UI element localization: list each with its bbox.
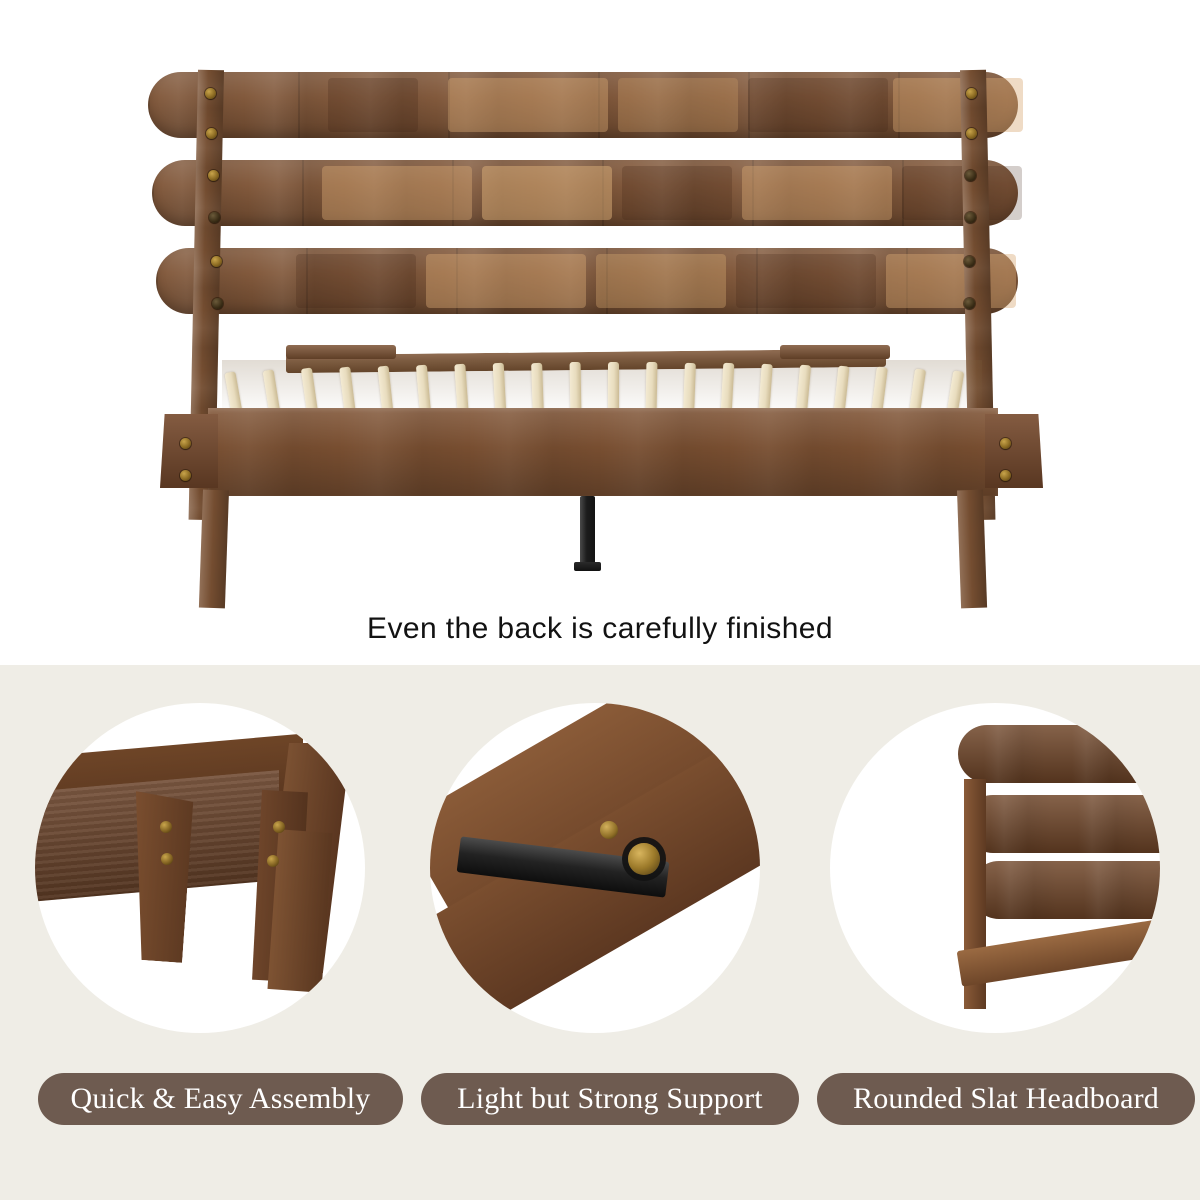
wood-block [328, 78, 418, 132]
wood-block [596, 254, 726, 308]
hero-caption: Even the back is carefully finished [0, 612, 1200, 646]
screw [965, 212, 976, 223]
screw [161, 853, 173, 865]
wood-block [618, 78, 738, 132]
feature-photo-1[interactable] [35, 703, 365, 1033]
wood-block [426, 254, 586, 308]
features-section: Quick & Easy Assembly Light but Strong S… [0, 665, 1200, 1200]
wood-block [736, 254, 876, 308]
bed-photo [0, 0, 1200, 600]
screw [212, 298, 223, 309]
screw [206, 128, 217, 139]
wood-block [886, 254, 1016, 308]
screw [180, 470, 191, 481]
screw [1000, 438, 1011, 449]
hero-section: Even the back is carefully finished [0, 0, 1200, 665]
screw [964, 298, 975, 309]
screw [209, 212, 220, 223]
wood-block [742, 166, 892, 220]
wood-block [622, 166, 732, 220]
screw [267, 855, 279, 867]
metal-support-photo [430, 703, 760, 1033]
screw [965, 170, 976, 181]
feature-photo-2[interactable] [430, 703, 760, 1033]
corner-joint-photo [35, 703, 365, 1033]
feature-label-1[interactable]: Quick & Easy Assembly [38, 1073, 403, 1125]
wood-block [893, 78, 1023, 132]
feature-label-3[interactable]: Rounded Slat Headboard [817, 1073, 1195, 1125]
feature-photo-3[interactable] [830, 703, 1160, 1033]
screw [1000, 470, 1011, 481]
frame-notch-right [780, 345, 890, 359]
bed-leg-left [199, 490, 229, 609]
rounded-slat-photo [830, 703, 1160, 1033]
screw [966, 88, 977, 99]
bolt [600, 821, 618, 839]
headboard-slat-2 [152, 160, 1018, 226]
bolt [628, 843, 660, 875]
frame-side-rail [208, 408, 998, 496]
wood-block [322, 166, 472, 220]
screw [964, 256, 975, 267]
headboard-slat-1 [148, 72, 1018, 138]
frame-notch-left [286, 345, 396, 359]
frame-endcap-right [985, 414, 1043, 488]
screw [180, 438, 191, 449]
feature-photos [0, 703, 1200, 1033]
center-support-leg [580, 496, 595, 566]
wood-block [748, 78, 888, 132]
wood-block [482, 166, 612, 220]
screw [966, 128, 977, 139]
screw [208, 170, 219, 181]
bed-leg-right [957, 490, 987, 609]
screw [273, 821, 285, 833]
screw [160, 821, 172, 833]
feature-label-2[interactable]: Light but Strong Support [421, 1073, 799, 1125]
center-support-foot [574, 562, 601, 571]
feature-labels: Quick & Easy Assembly Light but Strong S… [0, 1073, 1200, 1133]
wood-block [448, 78, 608, 132]
screw [211, 256, 222, 267]
wood-block [296, 254, 416, 308]
headboard-slat-3 [156, 248, 1018, 314]
screw [205, 88, 216, 99]
product-feature-page: Even the back is carefully finished [0, 0, 1200, 1200]
